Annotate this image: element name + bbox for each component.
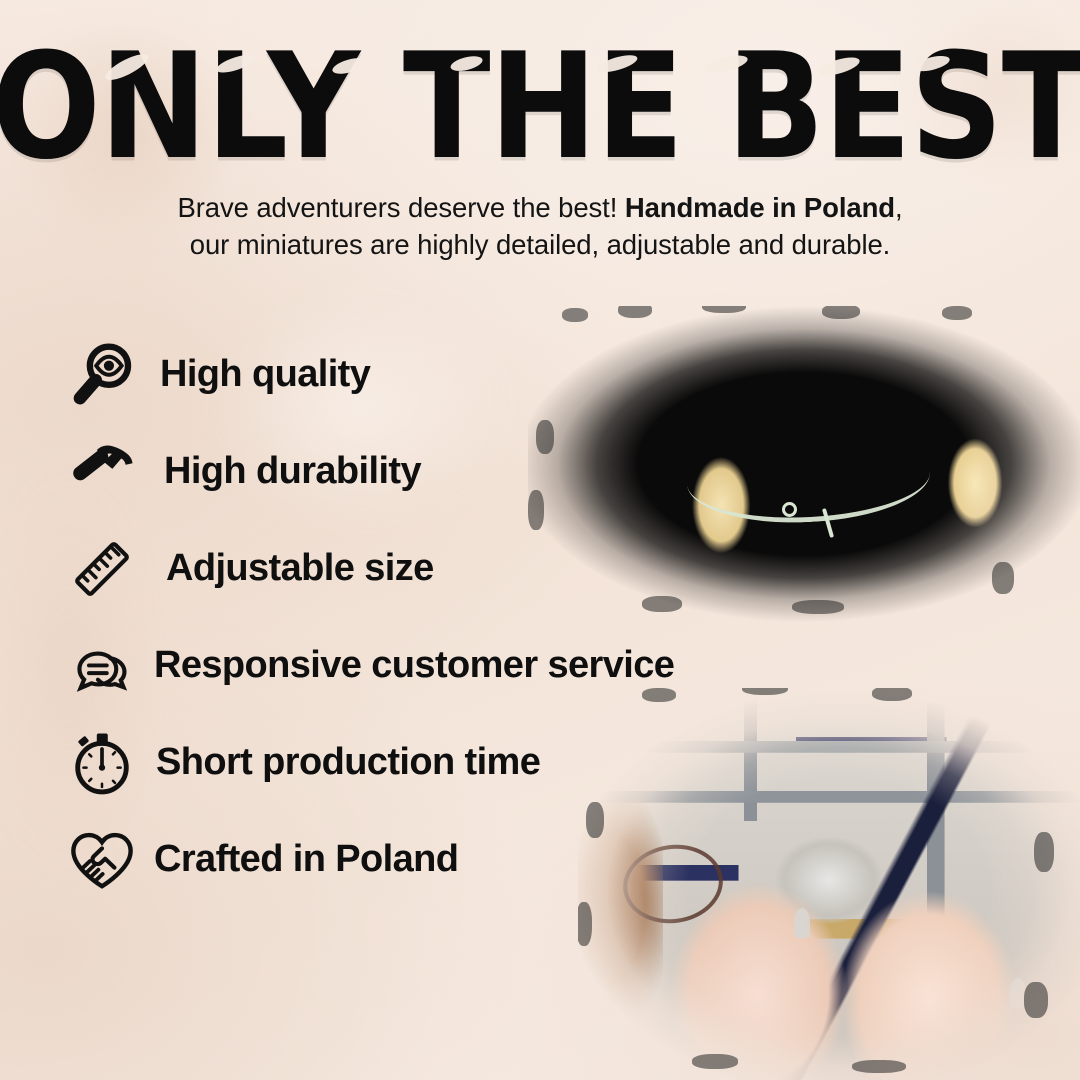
infographic-canvas: ONLY THE BEST Brave adventurers deserve …: [0, 0, 1080, 1080]
subtitle-line-1-suffix: ,: [895, 192, 903, 223]
ruler-icon: [62, 529, 142, 609]
miniature-part-loop: [782, 502, 797, 517]
stopwatch-icon: [62, 723, 142, 803]
flexible-miniature-photo: [528, 306, 1080, 622]
speech-bubbles-icon: [62, 626, 142, 706]
subtitle-line-1: Brave adventurers deserve the best! Hand…: [0, 190, 1080, 227]
subtitle-highlight: Handmade in Poland: [625, 192, 895, 223]
feature-label: Responsive customer service: [154, 644, 674, 687]
subtitle: Brave adventurers deserve the best! Hand…: [0, 190, 1080, 264]
feature-label: Crafted in Poland: [154, 838, 458, 881]
workshop-crafting-photo-image: [578, 688, 1080, 1080]
workshop-crafting-photo: [578, 688, 1080, 1080]
magnifier-eye-icon: [62, 335, 142, 415]
miniature-figure-shape: [794, 908, 810, 938]
page-title-text: ONLY THE BEST: [0, 21, 1080, 192]
subtitle-line-1-prefix: Brave adventurers deserve the best!: [177, 192, 624, 223]
feature-label: Adjustable size: [166, 547, 434, 590]
feature-label: High durability: [164, 450, 421, 493]
heart-handshake-icon: [62, 820, 142, 900]
feature-label: High quality: [160, 353, 370, 396]
miniature-part-shape: [687, 464, 932, 529]
miniature-figure-shape-secondary: [1010, 978, 1026, 1008]
page-title: ONLY THE BEST: [0, 34, 1080, 180]
feature-label: Short production time: [156, 741, 540, 784]
subtitle-line-2: our miniatures are highly detailed, adju…: [0, 227, 1080, 264]
hammer-icon: [62, 432, 142, 512]
flexible-miniature-photo-image: [528, 306, 1080, 622]
